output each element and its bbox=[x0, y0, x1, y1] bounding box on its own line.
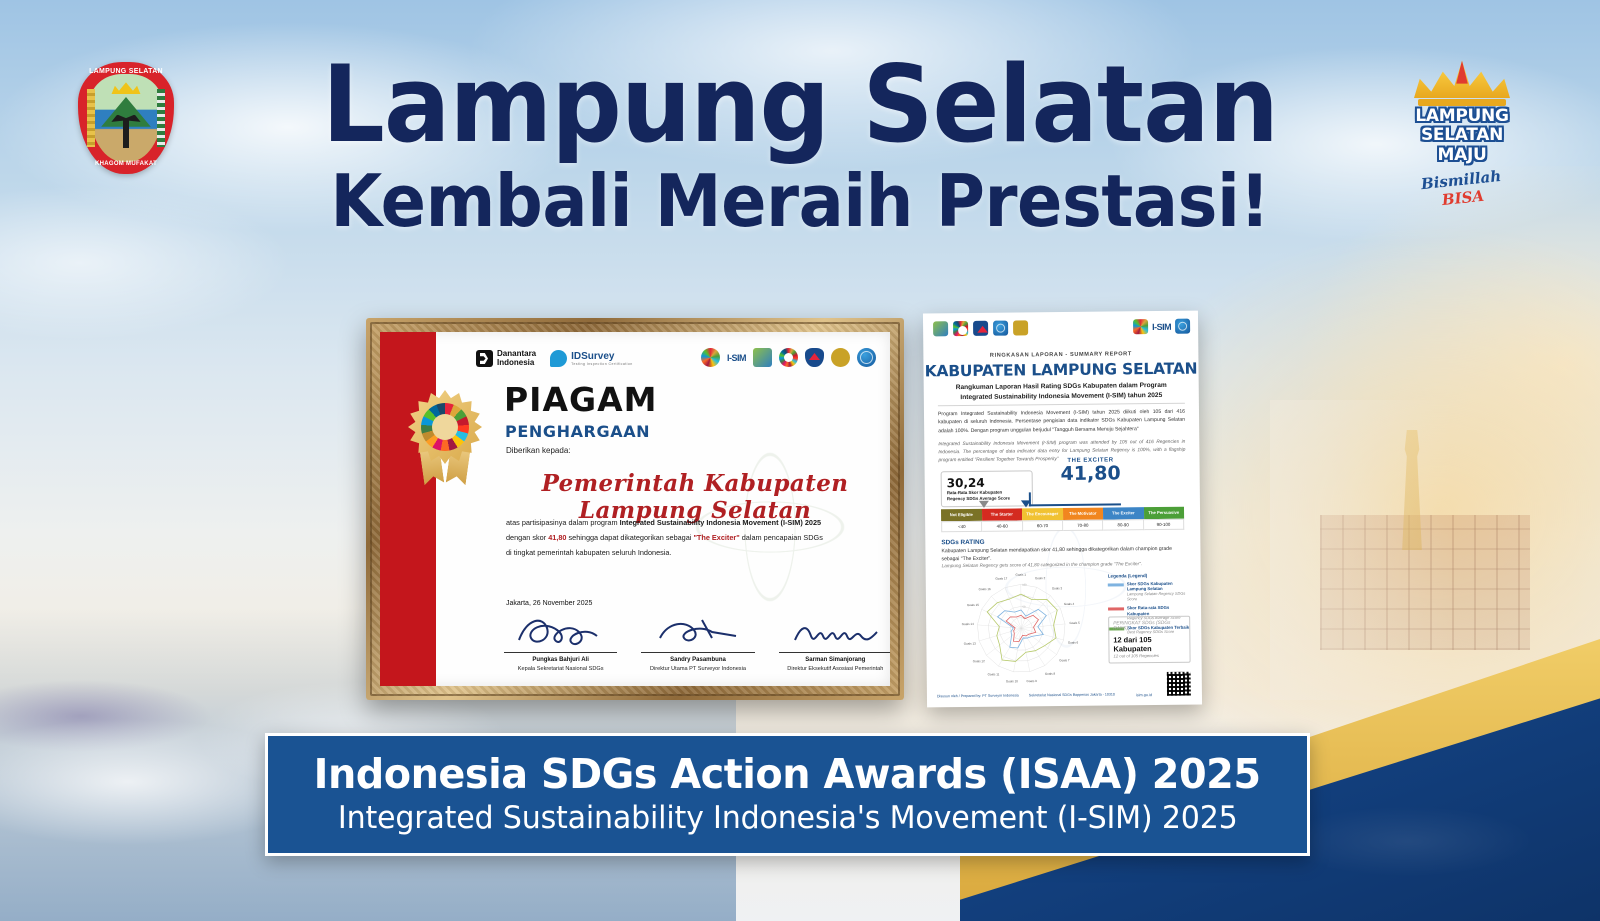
globe-logo-icon bbox=[857, 348, 876, 367]
certificate-body: atas partisipasinya dalam program Integr… bbox=[506, 516, 890, 561]
danantara-indonesia-logo: Danantara Indonesia bbox=[476, 350, 536, 367]
signature-role-1: Kepala Sekretariat Nasional SDGs bbox=[498, 665, 623, 673]
report-average-value: 30,24 bbox=[947, 475, 1027, 490]
certificate-body-line-1: atas partisipasinya dalam program Integr… bbox=[506, 516, 890, 531]
globe-logo-icon bbox=[993, 321, 1008, 336]
lampung-selatan-regency-emblem: LAMPUNG SELATAN KHAGOM MUFAKAT bbox=[78, 62, 174, 174]
summary-report-document: I-SIM RINGKASAN LAPORAN - SUMMARY REPORT… bbox=[923, 311, 1202, 708]
rating-band-range: <40 bbox=[941, 521, 982, 532]
certificate-logos-right: I-SIM bbox=[701, 348, 876, 367]
brand-line-1: LAMPUNG bbox=[1402, 108, 1522, 125]
certificate-body-line-3: di tingkat pemerintah kabupaten seluruh … bbox=[506, 546, 890, 561]
certificate-body-line-2: dengan skor 41,80 sehingga dapat dikateg… bbox=[506, 531, 890, 546]
qr-code bbox=[1166, 671, 1192, 697]
certificate-red-band bbox=[380, 332, 436, 686]
body-2-post: dalam pencapaian SDGs bbox=[740, 533, 823, 542]
svg-text:Goals 7: Goals 7 bbox=[1059, 658, 1070, 662]
rating-band-range: 70-80 bbox=[1063, 520, 1103, 531]
rating-band-range: 80-90 bbox=[1103, 519, 1143, 530]
emblem-ribbon-top: LAMPUNG SELATAN bbox=[78, 68, 174, 75]
isim-logo-text: I-SIM bbox=[1152, 321, 1171, 331]
apkasi-logo-icon bbox=[831, 348, 850, 367]
banner-line-1: Indonesia SDGs Action Awards (ISAA) 2025 bbox=[314, 752, 1261, 797]
report-logos-right: I-SIM bbox=[1133, 319, 1190, 335]
svg-text:Goals 13: Goals 13 bbox=[964, 642, 976, 646]
landmark-fade-overlay bbox=[1270, 400, 1600, 700]
danantara-text: Danantara Indonesia bbox=[497, 350, 536, 367]
signature-block-2: Sandry Pasambuna Direktur Utama PT Surve… bbox=[635, 612, 760, 673]
svg-text:Goals 4: Goals 4 bbox=[1064, 602, 1075, 606]
svg-text:Goals 15: Goals 15 bbox=[967, 603, 979, 607]
idsurvey-subtext: Testing Inspection Certification bbox=[571, 362, 633, 366]
apkasi-logo-icon bbox=[1013, 320, 1028, 335]
brand-line-3: MAJU bbox=[1402, 147, 1522, 164]
rating-band-range: 60-70 bbox=[1023, 520, 1063, 531]
sdg-colorwheel-icon bbox=[953, 321, 968, 336]
rating-band-range: 40-60 bbox=[982, 520, 1022, 531]
rating-band-cell: The Starter bbox=[981, 508, 1022, 520]
certificate-score-value: 41,80 bbox=[548, 533, 566, 542]
gold-crown-icon bbox=[1414, 58, 1510, 98]
bappenas-logo-icon bbox=[753, 348, 772, 367]
report-score-bracket bbox=[1029, 491, 1121, 506]
idsurvey-mark-icon bbox=[550, 350, 567, 367]
award-banner: Indonesia SDGs Action Awards (ISAA) 2025… bbox=[265, 733, 1310, 856]
svg-text:Goals 1: Goals 1 bbox=[1015, 573, 1026, 577]
rating-band-cell: The Encourager bbox=[1022, 508, 1063, 520]
danantara-mark-icon bbox=[476, 350, 493, 367]
rating-band-range: 90-100 bbox=[1144, 519, 1184, 530]
idsurvey-logo: IDSurvey Testing Inspection Certificatio… bbox=[550, 350, 633, 367]
certificate-logos-left: Danantara Indonesia IDSurvey Testing Ins… bbox=[476, 350, 633, 367]
average-marker-arrow bbox=[979, 501, 989, 508]
legend-item: Skor SDGs Kabupaten Lampung Selatan Lamp… bbox=[1108, 581, 1190, 602]
banner-line-2: Integrated Sustainability Indonesia's Mo… bbox=[338, 799, 1238, 838]
signature-row: Pungkas Bahjuri Ali Kepala Sekretariat N… bbox=[498, 612, 890, 673]
signature-line-1 bbox=[504, 652, 617, 653]
bappenas-logo-icon bbox=[933, 321, 948, 336]
globe-logo-icon bbox=[1175, 319, 1190, 334]
signature-name-3: Sarman Simanjorang bbox=[773, 656, 890, 665]
danantara-line-2: Indonesia bbox=[497, 359, 536, 367]
signature-block-1: Pungkas Bahjuri Ali Kepala Sekretariat N… bbox=[498, 612, 623, 673]
svg-text:Goals 17: Goals 17 bbox=[995, 577, 1007, 581]
lampung-selatan-maju-logo: LAMPUNG SELATAN MAJU Bismillah BISA bbox=[1402, 58, 1522, 183]
lampung-selatan-emblem-icon bbox=[973, 321, 988, 336]
lampung-selatan-emblem-icon bbox=[805, 348, 824, 367]
report-rating-heading: SDGs RATING bbox=[941, 539, 984, 546]
report-eyebrow: RINGKASAN LAPORAN - SUMMARY REPORT bbox=[923, 351, 1198, 360]
legend-text: Skor SDGs Kabupaten Lampung Selatan Lamp… bbox=[1127, 581, 1190, 602]
crown-base bbox=[1418, 99, 1506, 106]
legend-label-en: Lampung Selatan Regency SDGs Score bbox=[1127, 591, 1190, 601]
report-footer: Disusun oleh / Prepared by: PT Surveyor … bbox=[937, 671, 1192, 700]
palm-trunk-icon bbox=[123, 118, 129, 148]
rosette-sdg-wheel bbox=[421, 403, 469, 451]
signature-role-3: Direktur Eksekutif Asosiasi Pemerintah bbox=[773, 665, 890, 673]
report-score-box: THE EXCITER 41,80 bbox=[1044, 457, 1136, 485]
body-1-bold: Integrated Sustainability Indonesia Move… bbox=[620, 518, 822, 527]
svg-text:100: 100 bbox=[1022, 583, 1027, 587]
svg-text:Goals 6: Goals 6 bbox=[1068, 641, 1079, 645]
svg-text:Goals 14: Goals 14 bbox=[962, 622, 974, 626]
rating-band-cell: Not Eligible bbox=[941, 509, 982, 521]
sdg-wheel-icon bbox=[701, 348, 720, 367]
sdg-rosette-award-icon bbox=[408, 390, 482, 464]
rating-band-cell: The Motivator bbox=[1062, 508, 1103, 520]
svg-text:50: 50 bbox=[1022, 605, 1025, 609]
signature-name-1: Pungkas Bahjuri Ali bbox=[498, 656, 623, 665]
report-subtitle: Rangkuman Laporan Hasil Rating SDGs Kabu… bbox=[940, 381, 1183, 403]
body-1-pre: atas partisipasinya dalam program bbox=[506, 518, 620, 527]
body-2-mid: sehingga dapat dikategorikan sebagai bbox=[566, 533, 693, 542]
certificate-title: PIAGAM bbox=[504, 380, 657, 419]
report-footer-left: Disusun oleh / Prepared by: PT Surveyor … bbox=[937, 693, 1019, 699]
rating-band-cell: The Exciter bbox=[1103, 507, 1144, 519]
sdg-colorwheel-icon bbox=[779, 348, 798, 367]
certificate-frame: Danantara Indonesia IDSurvey Testing Ins… bbox=[366, 318, 904, 700]
body-2-pre: dengan skor bbox=[506, 533, 548, 542]
legend-heading: Legenda (Legend) bbox=[1108, 573, 1190, 579]
svg-text:Goals 12: Goals 12 bbox=[973, 659, 985, 663]
sdg-wheel-icon bbox=[1133, 319, 1148, 334]
svg-text:Goals 5: Goals 5 bbox=[1069, 621, 1080, 625]
svg-text:Goals 3: Goals 3 bbox=[1052, 586, 1063, 590]
rank-value: 12 dari 105 Kabupaten bbox=[1113, 635, 1185, 654]
report-score-value: 41,80 bbox=[1045, 463, 1137, 485]
rice-stalk-icon bbox=[87, 89, 96, 147]
svg-text:Goals 2: Goals 2 bbox=[1035, 576, 1046, 580]
certificate-paper: Danantara Indonesia IDSurvey Testing Ins… bbox=[380, 332, 890, 686]
signature-mark-2 bbox=[635, 612, 760, 652]
isim-logo-text: I-SIM bbox=[727, 353, 746, 363]
emblem-ribbon-bottom: KHAGOM MUFAKAT bbox=[78, 161, 174, 167]
signature-role-2: Direktur Utama PT Surveyor Indonesia bbox=[635, 665, 760, 673]
report-footer-url: isim.go.id bbox=[1136, 693, 1152, 697]
signature-line-2 bbox=[641, 652, 754, 653]
idsurvey-text: IDSurvey bbox=[571, 352, 633, 362]
sdgs-rank-box: PERINGKAT SDGs (SDGs RANK) 12 dari 105 K… bbox=[1108, 616, 1190, 664]
certificate-given-to-label: Diberikan kepada: bbox=[506, 446, 570, 455]
certificate-date: Jakarta, 26 November 2025 bbox=[506, 600, 592, 607]
rank-value-en: 12 out of 105 Regencies bbox=[1114, 653, 1186, 659]
signature-name-2: Sandry Pasambuna bbox=[635, 656, 760, 665]
report-footer-mid: Sekretariat Nasional SDGs Bappenas Jakar… bbox=[1029, 692, 1115, 698]
legend-swatch bbox=[1108, 583, 1124, 586]
score-marker-arrow bbox=[1021, 500, 1031, 507]
report-paragraph-id: Program Integrated Sustainability Indone… bbox=[938, 408, 1185, 435]
brand-line-2: SELATAN bbox=[1402, 127, 1522, 144]
cotton-stalk-icon bbox=[157, 89, 166, 147]
report-title: KABUPATEN LAMPUNG SELATAN bbox=[923, 360, 1198, 381]
signature-mark-3 bbox=[773, 612, 890, 652]
rank-heading: PERINGKAT SDGs (SDGs RANK) bbox=[1113, 621, 1185, 632]
signature-block-3: Sarman Simanjorang Direktur Eksekutif As… bbox=[773, 612, 890, 673]
legend-swatch bbox=[1108, 608, 1124, 611]
rating-band-cell: The Persuasive bbox=[1143, 507, 1184, 519]
signature-mark-1 bbox=[498, 612, 623, 652]
certificate-category-value: "The Exciter" bbox=[693, 533, 739, 542]
report-divider bbox=[938, 403, 1185, 407]
svg-text:Goals 16: Goals 16 bbox=[979, 587, 991, 591]
report-logos-left bbox=[933, 320, 1028, 336]
signature-line-3 bbox=[779, 652, 890, 653]
crown-icon bbox=[111, 81, 140, 94]
idsurvey-text-block: IDSurvey Testing Inspection Certificatio… bbox=[571, 352, 633, 366]
certificate-subtitle: PENGHARGAAN bbox=[505, 422, 650, 441]
